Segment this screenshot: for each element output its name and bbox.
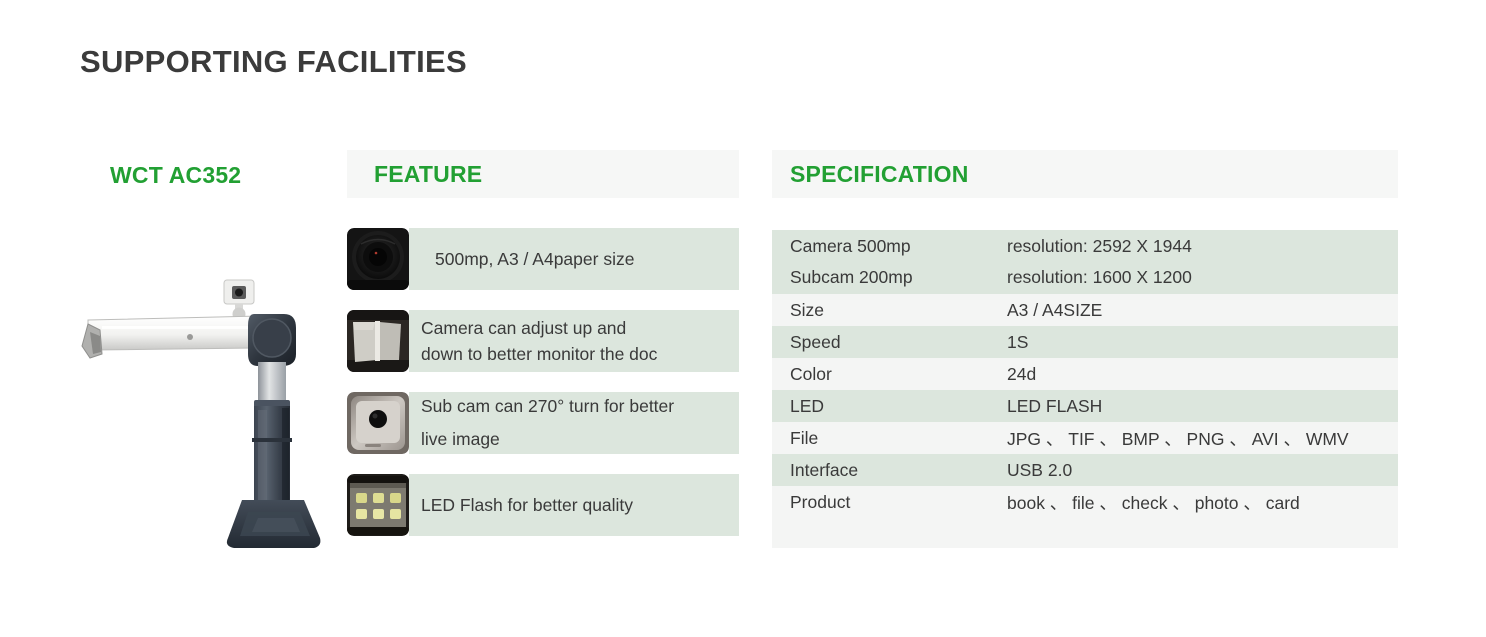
model-name: WCT AC352 xyxy=(110,162,241,189)
feature-text: LED Flash for better quality xyxy=(409,474,739,536)
spec-value: USB 2.0 xyxy=(1004,460,1398,481)
feature-text-line: down to better monitor the doc xyxy=(421,341,735,367)
table-row: Camera 500mp Subcam 200mp resolution: 25… xyxy=(772,230,1398,294)
spec-key: Size xyxy=(772,300,1004,321)
feature-row: LED Flash for better quality xyxy=(347,474,739,544)
spec-key: File xyxy=(772,428,1004,449)
table-row: File JPG 、 TIF 、 BMP 、 PNG 、 AVI 、 WMV xyxy=(772,422,1398,454)
spec-value-line: resolution: 2592 X 1944 xyxy=(1007,231,1398,262)
spec-value: 1S xyxy=(1004,332,1398,353)
feature-row: Camera can adjust up and down to better … xyxy=(347,310,739,380)
table-row: LED LED FLASH xyxy=(772,390,1398,422)
spec-key: Product xyxy=(772,492,1004,513)
spec-key: Speed xyxy=(772,332,1004,353)
product-photo xyxy=(72,262,337,554)
feature-text-line: Camera can adjust up and xyxy=(421,315,735,341)
feature-list: 500mp, A3 / A4paper size Camera can adju… xyxy=(347,228,739,556)
spec-value: A3 / A4SIZE xyxy=(1004,300,1398,321)
spec-key: Interface xyxy=(772,460,1004,481)
table-row: Speed 1S xyxy=(772,326,1398,358)
feature-text: Sub cam can 270° turn for better live im… xyxy=(409,392,739,454)
feature-text-line: live image xyxy=(421,423,735,456)
sub-camera-thumb-icon xyxy=(347,392,409,454)
table-row: Interface USB 2.0 xyxy=(772,454,1398,486)
led-flash-thumb-icon xyxy=(347,474,409,536)
feature-text-line: 500mp, A3 / A4paper size xyxy=(435,246,735,272)
table-bottom-filler xyxy=(772,518,1398,548)
camera-lens-thumb-icon xyxy=(347,228,409,290)
feature-text-line: LED Flash for better quality xyxy=(421,492,735,518)
spec-key: LED xyxy=(772,396,1004,417)
spec-value: book 、 file 、 check 、 photo 、 card xyxy=(1004,490,1398,515)
page-title: SUPPORTING FACILITIES xyxy=(80,44,467,80)
spec-value-line: resolution: 1600 X 1200 xyxy=(1007,262,1398,293)
feature-row: Sub cam can 270° turn for better live im… xyxy=(347,392,739,462)
feature-column-header: FEATURE xyxy=(347,150,739,198)
table-row: Product book 、 file 、 check 、 photo 、 ca… xyxy=(772,486,1398,518)
spec-value: 24d xyxy=(1004,364,1398,385)
table-row: Color 24d xyxy=(772,358,1398,390)
spec-value: LED FLASH xyxy=(1004,396,1398,417)
feature-text: Camera can adjust up and down to better … xyxy=(409,310,739,372)
feature-text-line: Sub cam can 270° turn for better xyxy=(421,390,735,423)
spec-key: Color xyxy=(772,364,1004,385)
spec-value: resolution: 2592 X 1944 resolution: 1600… xyxy=(1004,230,1398,294)
specification-table: Camera 500mp Subcam 200mp resolution: 25… xyxy=(772,230,1398,548)
spec-key-line: Subcam 200mp xyxy=(790,262,1004,293)
specification-column-header: SPECIFICATION xyxy=(772,150,1398,198)
camera-head-thumb-icon xyxy=(347,310,409,372)
spec-key: Camera 500mp Subcam 200mp xyxy=(772,230,1004,294)
specification-header-label: SPECIFICATION xyxy=(790,161,969,188)
feature-text: 500mp, A3 / A4paper size xyxy=(409,228,739,290)
spec-value: JPG 、 TIF 、 BMP 、 PNG 、 AVI 、 WMV xyxy=(1004,426,1398,451)
feature-header-label: FEATURE xyxy=(374,161,482,188)
spec-key-line: Camera 500mp xyxy=(790,231,1004,262)
table-row: Size A3 / A4SIZE xyxy=(772,294,1398,326)
feature-row: 500mp, A3 / A4paper size xyxy=(347,228,739,298)
